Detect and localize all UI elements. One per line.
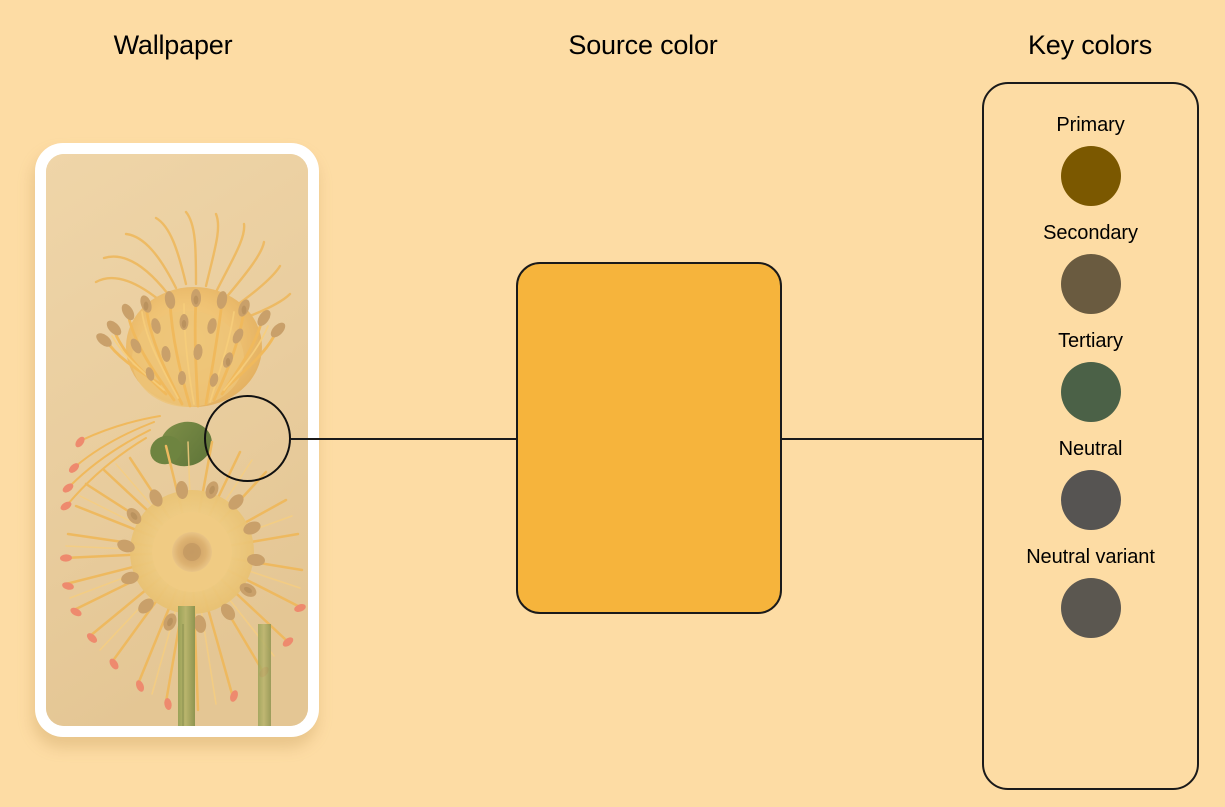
- connector-wallpaper-to-source: [291, 438, 516, 440]
- key-color-swatch-neutral: [1061, 470, 1121, 530]
- diagram-stage: Wallpaper Source color Key colors: [0, 0, 1225, 807]
- key-color-secondary: Secondary: [1043, 222, 1138, 314]
- key-color-label: Secondary: [1043, 222, 1138, 245]
- key-color-neutral: Neutral: [1059, 438, 1123, 530]
- key-color-label: Neutral variant: [1026, 546, 1155, 569]
- key-color-swatch-secondary: [1061, 254, 1121, 314]
- connector-source-to-key-colors: [780, 438, 983, 440]
- source-color-column-title: Source color: [568, 30, 717, 61]
- key-color-swatch-primary: [1061, 146, 1121, 206]
- sample-point-circle: [204, 395, 291, 482]
- key-color-swatch-tertiary: [1061, 362, 1121, 422]
- key-color-tertiary: Tertiary: [1058, 330, 1123, 422]
- key-color-label: Tertiary: [1058, 330, 1123, 353]
- wallpaper-column-title: Wallpaper: [114, 30, 233, 61]
- key-color-neutral-variant: Neutral variant: [1026, 546, 1155, 638]
- key-colors-column-title: Key colors: [1028, 30, 1152, 61]
- key-color-primary: Primary: [1056, 114, 1124, 206]
- key-color-label: Neutral: [1059, 438, 1123, 461]
- source-color-swatch: [516, 262, 782, 614]
- key-colors-panel: Primary Secondary Tertiary Neutral Neutr…: [982, 82, 1199, 790]
- key-color-swatch-neutral-variant: [1061, 578, 1121, 638]
- key-color-label: Primary: [1056, 114, 1124, 137]
